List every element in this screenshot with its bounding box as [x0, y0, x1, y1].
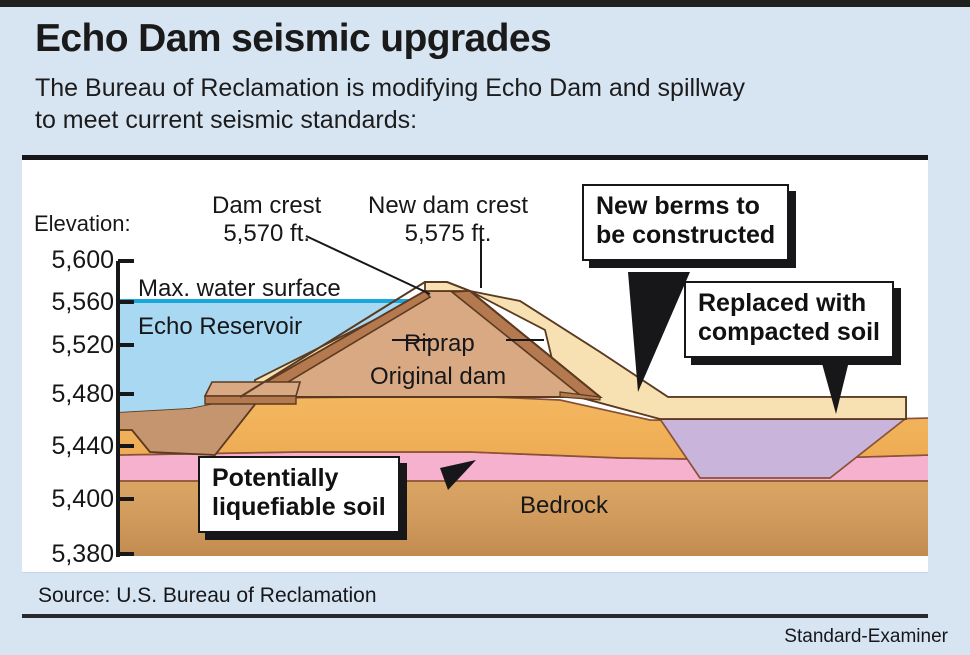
tick-label-5440: 5,440 — [26, 432, 114, 461]
label-bedrock: Bedrock — [520, 492, 608, 520]
label-dam-crest: Dam crest 5,570 ft. — [212, 192, 321, 248]
axis-title: Elevation: — [34, 211, 131, 237]
source-text: Source: U.S. Bureau of Reclamation — [38, 584, 377, 608]
tick-label-5400: 5,400 — [26, 485, 114, 514]
label-max-water-surface: Max. water surface — [138, 275, 341, 303]
label-original-dam: Original dam — [370, 363, 506, 391]
tick-label-5480: 5,480 — [26, 380, 114, 409]
tick-label-5600: 5,600 — [26, 246, 114, 275]
label-new-dam-crest: New dam crest 5,575 ft. — [368, 192, 528, 248]
label-echo-reservoir: Echo Reservoir — [138, 313, 302, 341]
callout-new-berms: New berms to be constructed — [582, 184, 789, 261]
tick-label-5520: 5,520 — [26, 331, 114, 360]
callout-replaced-compacted-soil: Replaced with compacted soil — [684, 281, 894, 358]
infographic-root: Echo Dam seismic upgrades The Bureau of … — [0, 0, 970, 655]
callout-potentially-liquefiable-soil: Potentially liquefiable soil — [198, 456, 400, 533]
label-riprap: Riprap — [404, 330, 475, 358]
credit-text: Standard-Examiner — [784, 626, 948, 648]
bottom-rule — [22, 614, 928, 618]
tick-label-5380: 5,380 — [26, 540, 114, 569]
tick-label-5560: 5,560 — [26, 288, 114, 317]
